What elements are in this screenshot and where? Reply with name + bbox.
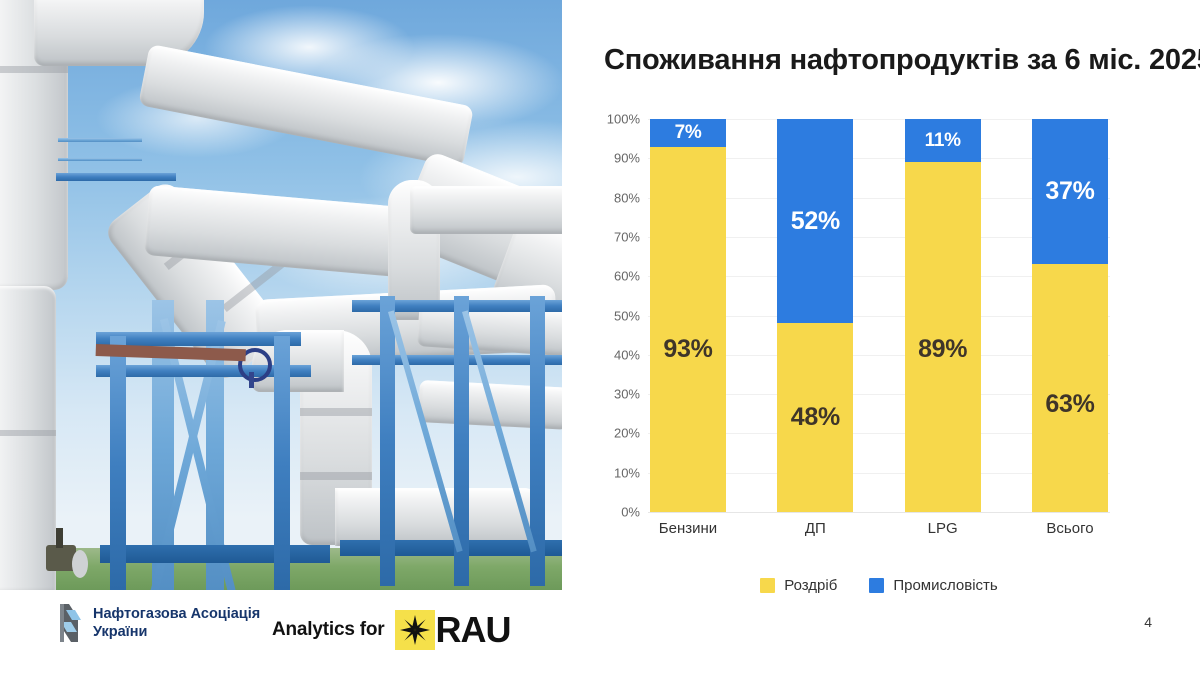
railing [58,138,142,142]
industrial-pipeline-photo [0,0,562,590]
steel-beam-horizontal [96,332,301,346]
steel-column [274,336,290,590]
eight-point-star-icon [399,614,431,646]
bar-segment-industry[interactable]: 52% [777,119,853,323]
y-axis-tick-label: 80% [614,190,640,205]
pipe-u-bend-bottom [335,488,535,546]
chart-panel: Споживання нафтопродуктів за 6 міс. 2025… [562,0,1200,675]
x-axis-tick-label: ДП [777,520,853,537]
bar-series-container: 7%93%52%48%11%89%37%63% [648,119,1110,512]
rau-mark: RAU [395,610,511,650]
bar-segment-retail[interactable]: 89% [905,162,981,512]
bar-column[interactable]: 7%93% [650,119,726,512]
valve-handle [56,528,63,548]
y-axis-tick-label: 60% [614,269,640,284]
gridline [648,512,1110,513]
bar-value-label: 93% [663,337,712,362]
pipe-band [300,408,372,416]
y-axis: 0%10%20%30%40%50%60%70%80%90%100% [562,105,648,505]
rau-logo[interactable]: Analytics for [272,610,511,650]
pipe-band [0,66,68,73]
steel-column [110,336,126,590]
y-axis-tick-label: 10% [614,465,640,480]
analytics-for-label: Analytics for [272,619,385,641]
y-axis-tick-label: 0% [621,505,640,520]
bar-segment-industry[interactable]: 37% [1032,119,1108,264]
x-axis-tick-label: Всього [1032,520,1108,537]
slide: Споживання нафтопродуктів за 6 міс. 2025… [0,0,1200,675]
bar-column[interactable]: 37%63% [1032,119,1108,512]
y-axis-tick-label: 90% [614,151,640,166]
bar-value-label: 48% [791,405,840,430]
bar-value-label: 63% [1045,392,1094,417]
bar-column[interactable]: 52%48% [777,119,853,512]
bar-segment-retail[interactable]: 48% [777,323,853,512]
x-axis: БензиниДПLPGВсього [648,520,1110,537]
steel-column-right [380,296,395,586]
page-number: 4 [1144,614,1152,630]
y-axis-tick-label: 100% [607,112,640,127]
slide-footer: Нафтогазова Асоціація України Analytics … [0,590,1200,675]
bar-segment-industry[interactable]: 11% [905,119,981,162]
bar-value-label: 52% [791,209,840,234]
steel-beam-horizontal [100,545,330,563]
y-axis-tick-label: 70% [614,229,640,244]
bar-value-label: 7% [675,123,702,142]
x-axis-tick-label: LPG [905,520,981,537]
valve-stem [249,372,254,388]
ngau-line-2: України [93,623,260,641]
valve-flange [72,550,88,578]
rau-wordmark: RAU [436,612,511,648]
bar-column[interactable]: 11%89% [905,119,981,512]
bar-segment-retail[interactable]: 63% [1032,264,1108,512]
ngau-flame-icon [58,602,84,644]
bar-value-label: 89% [918,337,967,362]
chart-title: Споживання нафтопродуктів за 6 міс. 2025… [604,44,1200,77]
bar-value-label: 37% [1045,179,1094,204]
y-axis-tick-label: 50% [614,308,640,323]
rau-star-badge [395,610,435,650]
pipe-band [0,430,56,436]
ngau-logo[interactable]: Нафтогазова Асоціація України [58,602,260,644]
platform [56,173,176,181]
chart-plot-area: 0%10%20%30%40%50%60%70%80%90%100% 7%93%5… [562,105,1200,525]
ngau-line-1: Нафтогазова Асоціація [93,605,260,623]
x-axis-tick-label: Бензини [650,520,726,537]
bar-segment-retail[interactable]: 93% [650,147,726,512]
railing [58,158,142,161]
pipe-band [300,472,372,480]
plot-inner: 7%93%52%48%11%89%37%63% [648,119,1110,512]
bar-segment-industry[interactable]: 7% [650,119,726,147]
bar-value-label: 11% [925,131,961,150]
y-axis-tick-label: 40% [614,347,640,362]
ngau-logo-text: Нафтогазова Асоціація України [93,605,260,641]
y-axis-tick-label: 30% [614,387,640,402]
y-axis-tick-label: 20% [614,426,640,441]
pipe-right-horizontal [410,186,562,234]
